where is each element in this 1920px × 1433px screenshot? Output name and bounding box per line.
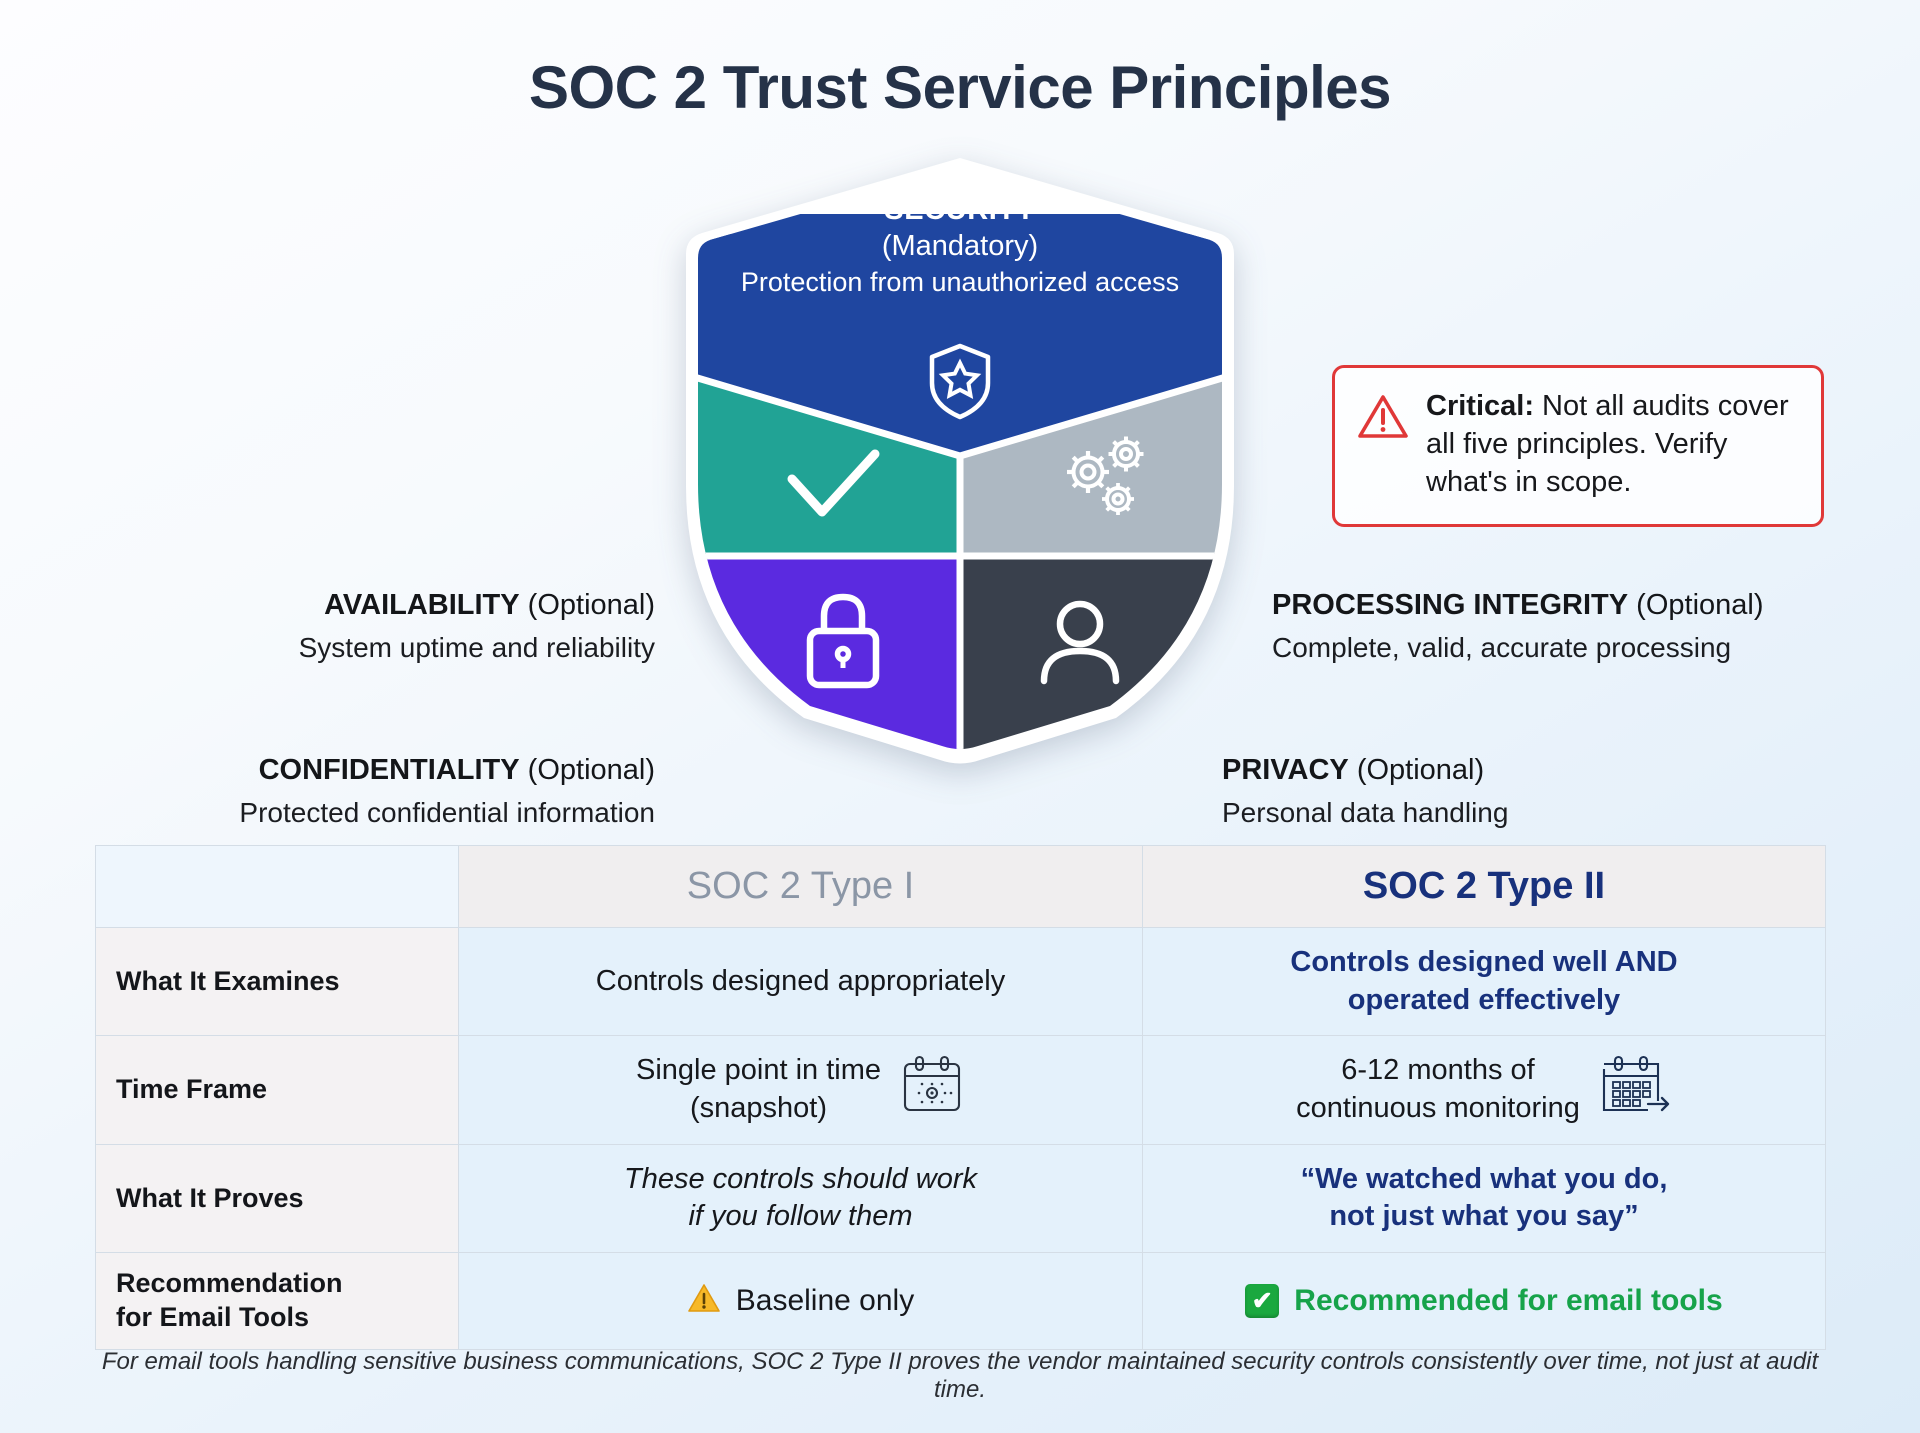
shield-segment-privacy[interactable]	[962, 558, 1230, 764]
privacy-description: Personal data handling	[1222, 794, 1842, 832]
cell-proves-type2-line1: “We watched what you do,	[1157, 1161, 1811, 1199]
shield-diagram: SECURITY (Mandatory) Protection from una…	[0, 122, 1920, 762]
confidentiality-name: CONFIDENTIALITY	[259, 754, 520, 786]
calendar-continuous-icon	[1598, 1054, 1672, 1127]
row-label-recommendation: Recommendation for Email Tools	[96, 1253, 459, 1350]
processing-integrity-description: Complete, valid, accurate processing	[1272, 629, 1892, 667]
table-header-type2: SOC 2 Type II	[1143, 846, 1826, 928]
table-header-row: SOC 2 Type I SOC 2 Type II	[96, 846, 1826, 928]
cell-proves-type1-line2: if you follow them	[473, 1198, 1128, 1236]
shield-segment-confidentiality[interactable]	[690, 558, 958, 764]
footnote: For email tools handling sensitive busin…	[95, 1348, 1825, 1404]
warning-triangle-icon	[1357, 393, 1409, 446]
processing-integrity-qualifier: (Optional)	[1636, 589, 1763, 621]
availability-qualifier: (Optional)	[528, 589, 655, 621]
cell-timeframe-type2-line1: 6-12 months of	[1296, 1052, 1580, 1090]
row-label-recommendation-line1: Recommendation	[116, 1267, 458, 1301]
shield-svg	[670, 154, 1250, 764]
label-availability: AVAILABILITY (Optional) System uptime an…	[225, 587, 655, 666]
label-confidentiality: CONFIDENTIALITY (Optional) Protected con…	[165, 752, 655, 831]
comparison-table: SOC 2 Type I SOC 2 Type II What It Exami…	[95, 845, 1826, 1350]
cell-proves-type2-line2: not just what you say”	[1157, 1198, 1811, 1236]
cell-recommendation-type2: ✔ Recommended for email tools	[1143, 1253, 1826, 1350]
cell-recommendation-type1: Baseline only	[459, 1253, 1143, 1350]
trust-principles-shield: SECURITY (Mandatory) Protection from una…	[670, 154, 1250, 764]
critical-text: Critical: Not all audits cover all five …	[1426, 388, 1799, 502]
cell-timeframe-type1: Single point in time (snapshot)	[459, 1036, 1143, 1144]
privacy-qualifier: (Optional)	[1357, 754, 1484, 786]
availability-description: System uptime and reliability	[225, 629, 655, 667]
privacy-name: PRIVACY	[1222, 754, 1349, 786]
processing-integrity-name: PROCESSING INTEGRITY	[1272, 589, 1628, 621]
row-label-what-it-examines: What It Examines	[96, 928, 459, 1036]
cell-recommendation-type2-label: Recommended for email tools	[1294, 1281, 1722, 1320]
cell-timeframe-type1-line2: (snapshot)	[636, 1090, 881, 1128]
cell-proves-type1-line1: These controls should work	[473, 1161, 1128, 1199]
table-header-type2-label: SOC 2 Type II	[1363, 865, 1605, 907]
table-header-type1-label: SOC 2 Type I	[687, 865, 914, 907]
cell-recommendation-type1-label: Baseline only	[736, 1281, 914, 1320]
confidentiality-qualifier: (Optional)	[528, 754, 655, 786]
cell-timeframe-type1-line1: Single point in time	[636, 1052, 881, 1090]
label-privacy: PRIVACY (Optional) Personal data handlin…	[1222, 752, 1842, 831]
table-row: Time Frame Single point in time (snapsho…	[96, 1036, 1826, 1144]
critical-callout: Critical: Not all audits cover all five …	[1332, 365, 1824, 527]
cell-proves-type2: “We watched what you do, not just what y…	[1143, 1144, 1826, 1252]
row-label-what-it-proves: What It Proves	[96, 1144, 459, 1252]
page-title: SOC 2 Trust Service Principles	[0, 0, 1920, 122]
label-processing-integrity: PROCESSING INTEGRITY (Optional) Complete…	[1272, 587, 1892, 666]
cell-timeframe-type2-line2: continuous monitoring	[1296, 1090, 1580, 1128]
cell-examines-type2-line1: Controls designed well AND	[1157, 944, 1811, 982]
confidentiality-description: Protected confidential information	[165, 794, 655, 832]
cell-examines-type2: Controls designed well AND operated effe…	[1143, 928, 1826, 1036]
row-label-time-frame: Time Frame	[96, 1036, 459, 1144]
critical-lead: Critical:	[1426, 390, 1534, 422]
cell-examines-type1: Controls designed appropriately	[459, 928, 1143, 1036]
cell-timeframe-type2: 6-12 months of continuous monitoring	[1143, 1036, 1826, 1144]
warning-triangle-yellow-icon	[687, 1283, 721, 1319]
table-row: Recommendation for Email Tools Baseline …	[96, 1253, 1826, 1350]
table-row: What It Examines Controls designed appro…	[96, 928, 1826, 1036]
table-header-type1: SOC 2 Type I	[459, 846, 1143, 928]
table-row: What It Proves These controls should wor…	[96, 1144, 1826, 1252]
row-label-recommendation-line2: for Email Tools	[116, 1301, 458, 1335]
green-check-box-icon: ✔	[1245, 1284, 1279, 1318]
comparison-table-wrapper: SOC 2 Type I SOC 2 Type II What It Exami…	[95, 845, 1825, 1350]
calendar-single-day-icon	[899, 1054, 965, 1127]
cell-examines-type2-line2: operated effectively	[1157, 982, 1811, 1020]
cell-proves-type1: These controls should work if you follow…	[459, 1144, 1143, 1252]
availability-name: AVAILABILITY	[324, 589, 519, 621]
table-header-blank	[96, 846, 459, 928]
